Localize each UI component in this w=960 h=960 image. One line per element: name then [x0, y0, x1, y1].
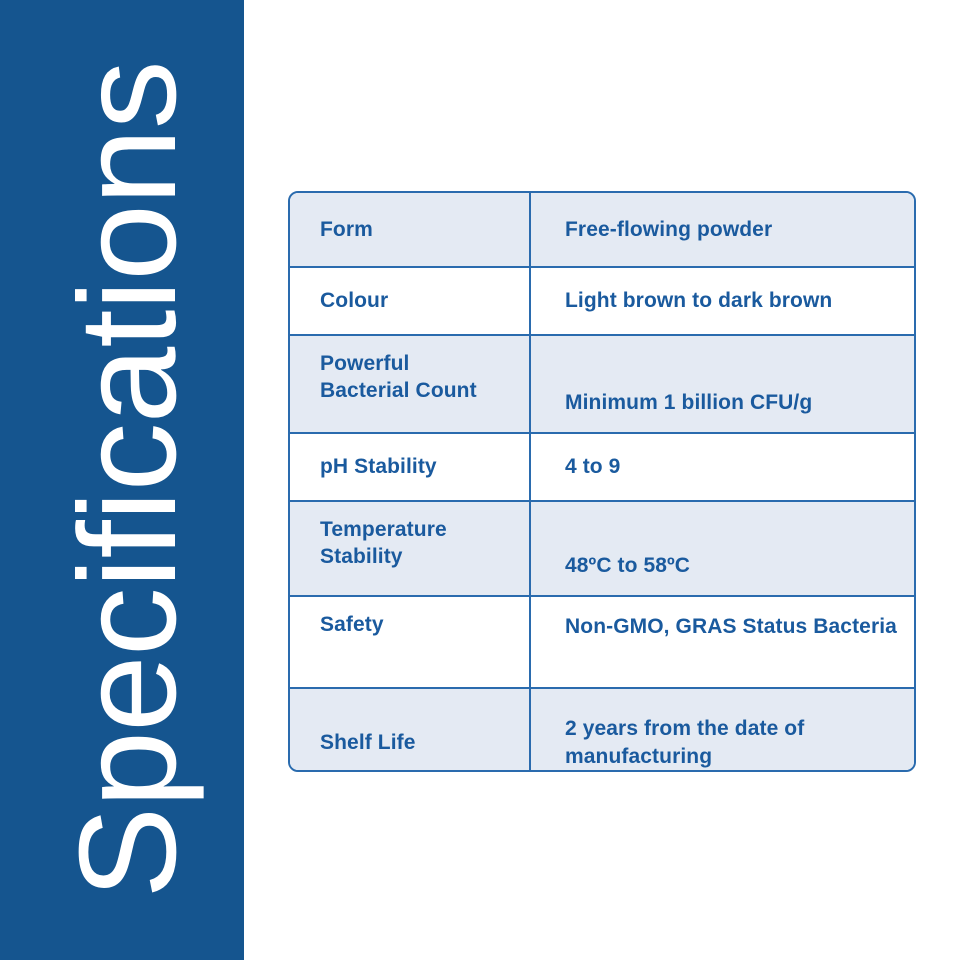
spec-label-safety: Safety — [320, 611, 384, 638]
table-row: Colour Light brown to dark brown — [290, 268, 914, 336]
spec-value-bacterial-count: Minimum 1 billion CFU/g — [565, 389, 812, 416]
spec-value-form: Free-flowing powder — [565, 216, 772, 243]
spec-label-shelf-life: Shelf Life — [320, 729, 416, 756]
table-row: pH Stability 4 to 9 — [290, 434, 914, 502]
spec-value-shelf-life: 2 years from the date of manufacturing — [565, 715, 900, 770]
table-cell-label: pH Stability — [290, 434, 531, 500]
specifications-table: Form Free-flowing powder Colour Light br… — [288, 191, 916, 772]
table-cell-value: Minimum 1 billion CFU/g — [531, 336, 914, 432]
spec-label-temperature-stability: Temperature Stability — [320, 516, 447, 571]
table-cell-label: Temperature Stability — [290, 502, 531, 595]
table-cell-label: Form — [290, 193, 531, 266]
table-cell-value: 4 to 9 — [531, 434, 914, 500]
table-row: Form Free-flowing powder — [290, 193, 914, 268]
table-cell-value: Free-flowing powder — [531, 193, 914, 266]
table-cell-value: Non-GMO, GRAS Status Bacteria — [531, 597, 914, 687]
spec-value-temperature-stability: 48ºC to 58ºC — [565, 552, 690, 579]
table-row: Safety Non-GMO, GRAS Status Bacteria — [290, 597, 914, 689]
page-root: Specifications Form Free-flowing powder … — [0, 0, 960, 960]
table-cell-value: Light brown to dark brown — [531, 268, 914, 334]
spec-value-ph-stability: 4 to 9 — [565, 453, 620, 480]
spec-label-form: Form — [320, 216, 373, 243]
table-cell-label: Colour — [290, 268, 531, 334]
table-cell-value: 2 years from the date of manufacturing — [531, 689, 914, 772]
sidebar-title-wrapper: Specifications — [0, 0, 244, 960]
spec-label-colour: Colour — [320, 287, 388, 314]
table-row: Powerful Bacterial Count Minimum 1 billi… — [290, 336, 914, 434]
table-row: Temperature Stability 48ºC to 58ºC — [290, 502, 914, 597]
table-cell-label: Safety — [290, 597, 531, 687]
spec-label-bacterial-count: Powerful Bacterial Count — [320, 350, 477, 405]
spec-label-ph-stability: pH Stability — [320, 453, 437, 480]
spec-value-colour: Light brown to dark brown — [565, 287, 832, 314]
table-cell-label: Shelf Life — [290, 689, 531, 772]
spec-value-safety: Non-GMO, GRAS Status Bacteria — [565, 613, 897, 640]
page-title: Specifications — [59, 61, 197, 898]
table-row: Shelf Life 2 years from the date of manu… — [290, 689, 914, 772]
table-cell-label: Powerful Bacterial Count — [290, 336, 531, 432]
table-cell-value: 48ºC to 58ºC — [531, 502, 914, 595]
sidebar-banner: Specifications — [0, 0, 244, 960]
